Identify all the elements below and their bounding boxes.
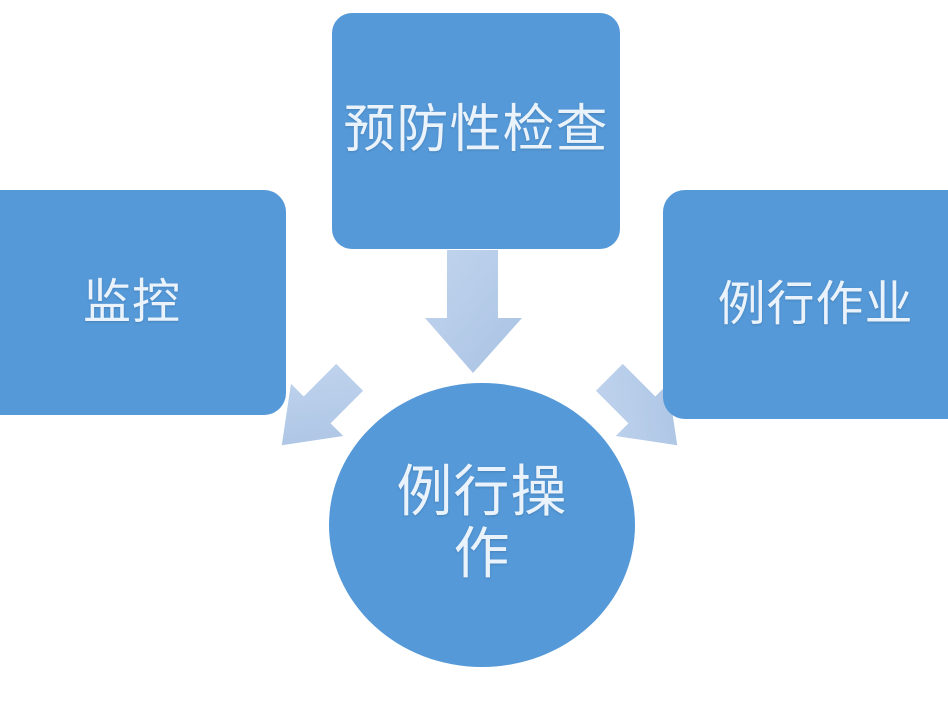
node-label-preventive-inspection: 预防性检查 — [337, 102, 614, 160]
node-label-routine-operation: 例行操作 — [381, 463, 583, 586]
arrow-preventive-to-center — [425, 250, 522, 373]
diagram-canvas: 预防性检查 监控 例行作业 例行操作 — [0, 0, 948, 705]
node-label-monitoring: 监控 — [77, 276, 187, 330]
node-label-routine-job: 例行作业 — [712, 278, 920, 332]
node-routine-job[interactable]: 例行作业 — [663, 190, 948, 419]
node-preventive-inspection[interactable]: 预防性检查 — [332, 13, 620, 249]
node-monitoring[interactable]: 监控 — [0, 190, 286, 415]
node-routine-operation[interactable]: 例行操作 — [329, 383, 635, 667]
